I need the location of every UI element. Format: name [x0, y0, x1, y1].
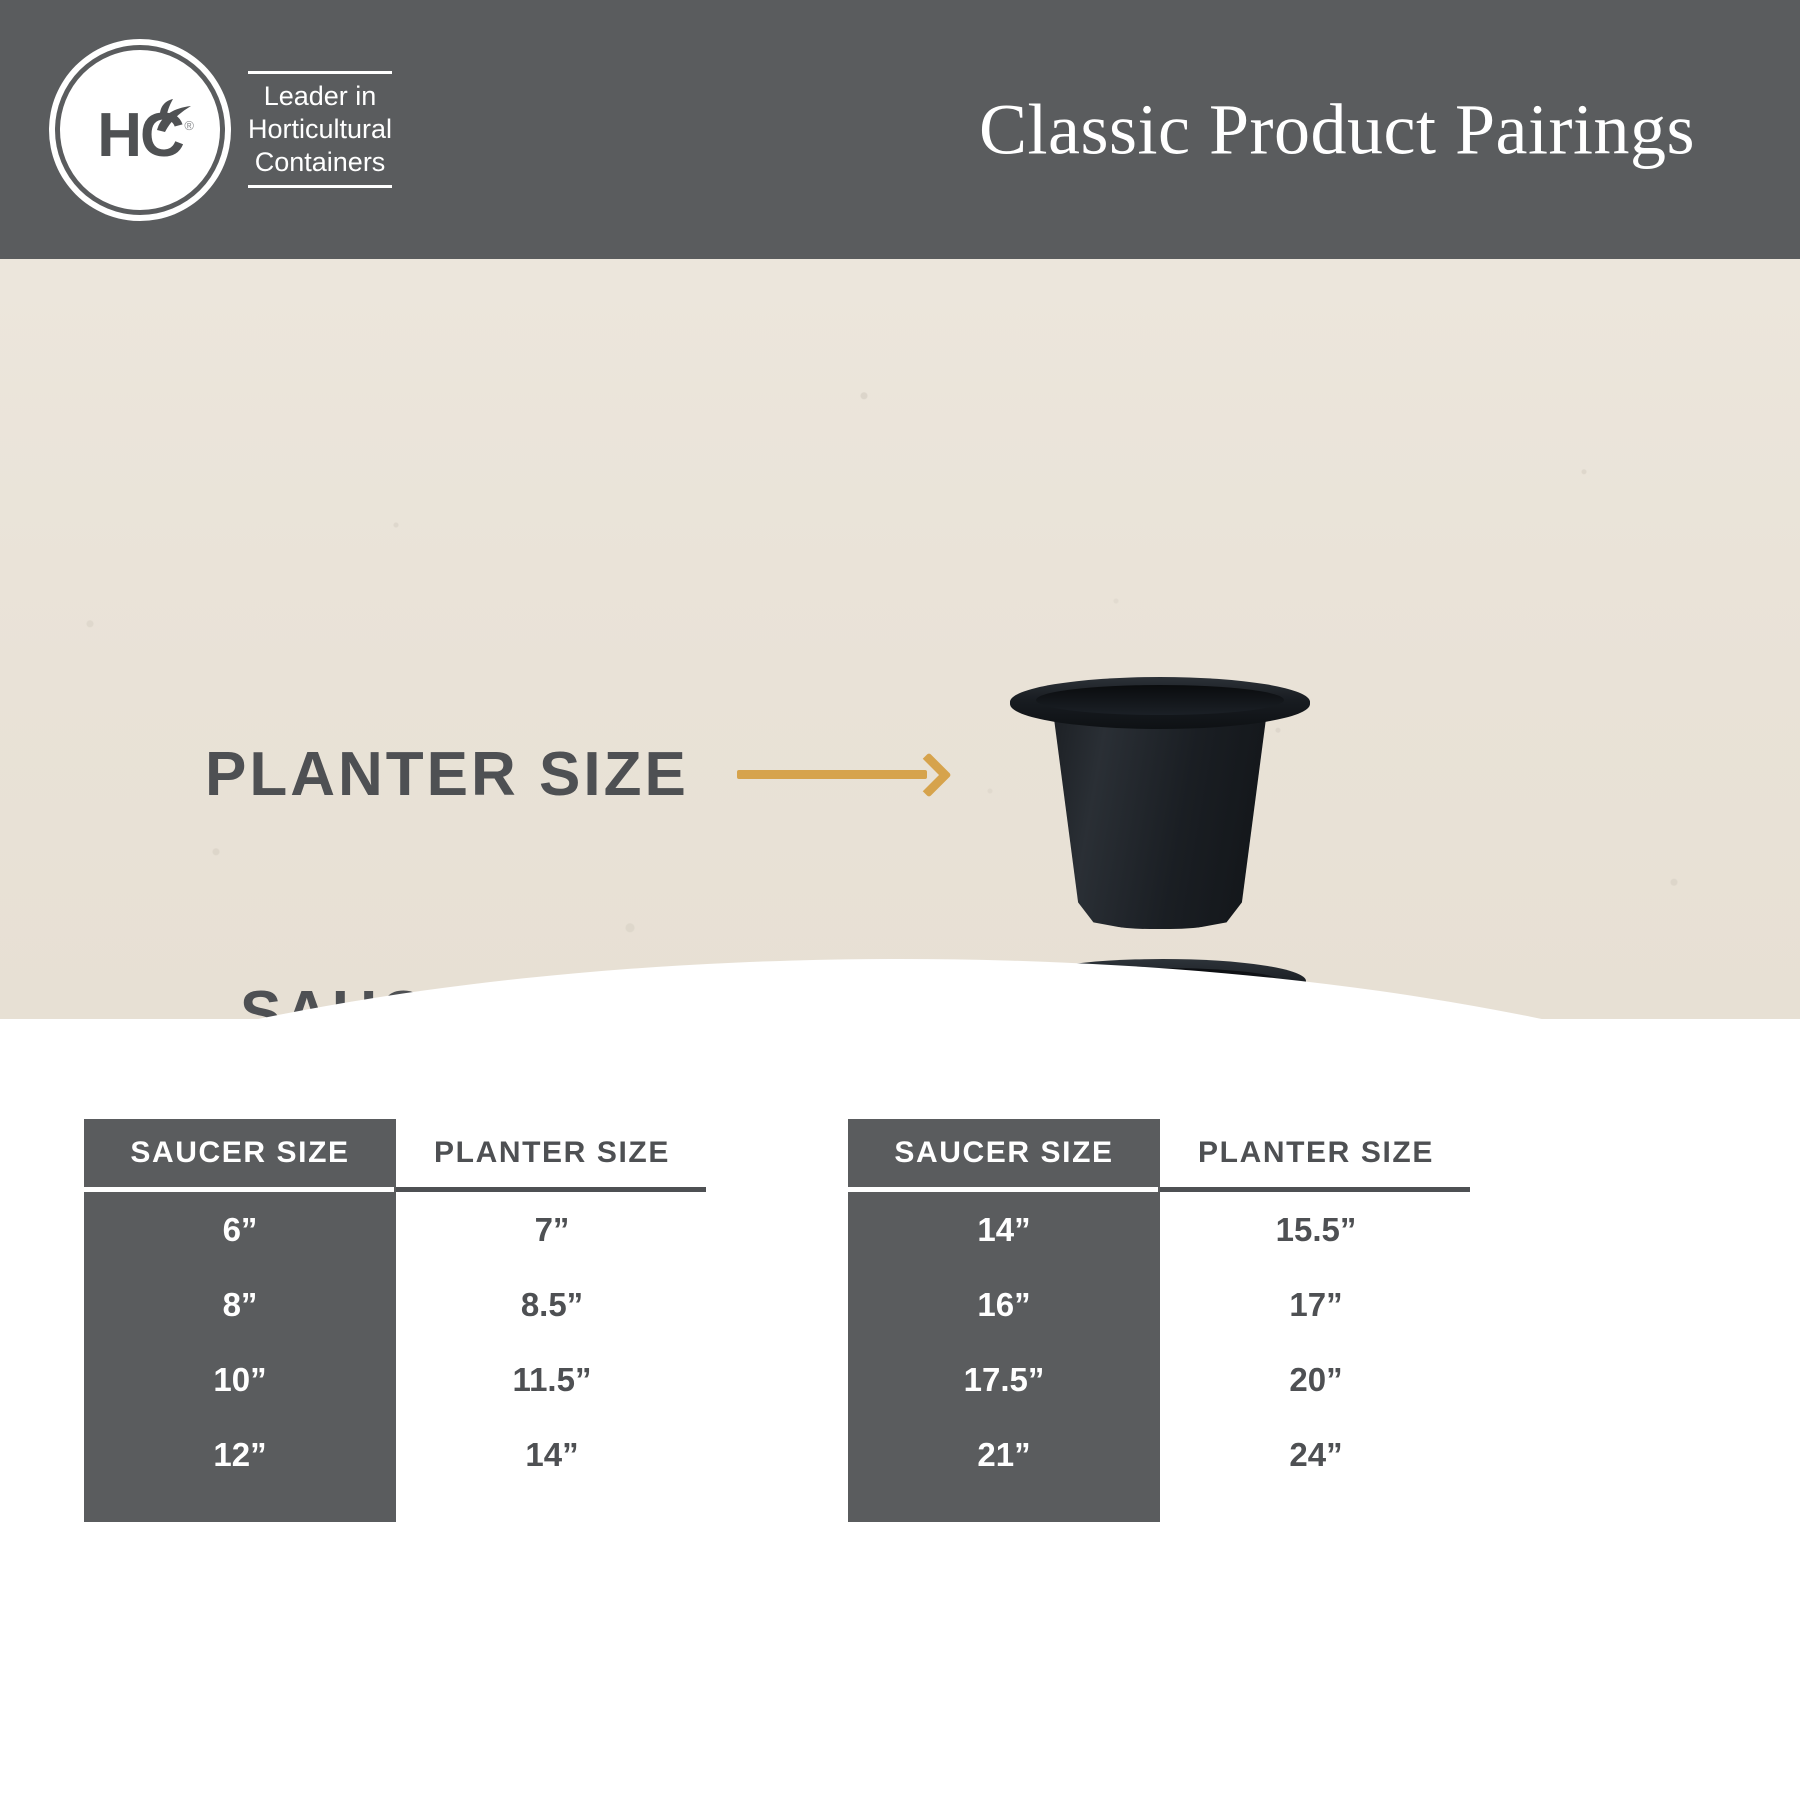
- planter-arrow-icon: [737, 759, 945, 791]
- planter-column: PLANTER SIZE 7” 8.5” 11.5” 14”: [396, 1119, 708, 1522]
- tagline-line-2: Horticultural: [248, 113, 392, 146]
- registered-trademark-icon: ®: [184, 118, 194, 133]
- table-cell-planter: 7”: [396, 1192, 708, 1267]
- planter-column: PLANTER SIZE 15.5” 17” 20” 24”: [1160, 1119, 1472, 1522]
- table-cell-planter: 8.5”: [396, 1267, 708, 1342]
- planter-pot-image: [1010, 669, 1310, 929]
- hero-section: PLANTER SIZE SAUCER SIZE: [0, 259, 1800, 1019]
- column-header-saucer: SAUCER SIZE: [84, 1119, 396, 1187]
- table-cell-planter: 15.5”: [1160, 1192, 1472, 1267]
- column-header-planter: PLANTER SIZE: [396, 1119, 708, 1187]
- table-cell-saucer: 10”: [84, 1342, 396, 1417]
- saucer-column: SAUCER SIZE 14” 16” 17.5” 21”: [848, 1119, 1160, 1522]
- table-cell-saucer: 21”: [848, 1417, 1160, 1492]
- table-cell-planter: 17”: [1160, 1267, 1472, 1342]
- size-table-small: SAUCER SIZE 6” 8” 10” 12” PLANTER SIZE 7…: [84, 1119, 708, 1522]
- column-header-planter: PLANTER SIZE: [1160, 1119, 1472, 1187]
- size-table-large: SAUCER SIZE 14” 16” 17.5” 21” PLANTER SI…: [848, 1119, 1472, 1522]
- tagline-line-3: Containers: [248, 146, 392, 179]
- table-cell-planter: 11.5”: [396, 1342, 708, 1417]
- column-header-saucer: SAUCER SIZE: [848, 1119, 1160, 1187]
- brand-logo: HC ® Leader in Horticultural Containers: [60, 50, 392, 210]
- table-cell-planter: 20”: [1160, 1342, 1472, 1417]
- page-title: Classic Product Pairings: [600, 88, 1740, 171]
- table-cell-saucer: 16”: [848, 1267, 1160, 1342]
- size-chart-section: SAUCER SIZE 6” 8” 10” 12” PLANTER SIZE 7…: [0, 1019, 1800, 1800]
- table-cell-saucer: 12”: [84, 1417, 396, 1492]
- tagline-line-1: Leader in: [248, 80, 392, 113]
- planter-size-label: PLANTER SIZE: [205, 739, 689, 810]
- page-header: HC ® Leader in Horticultural Containers …: [0, 0, 1800, 259]
- table-cell-saucer: 6”: [84, 1192, 396, 1267]
- planter-size-callout: PLANTER SIZE: [205, 739, 945, 810]
- table-cell-saucer: 14”: [848, 1192, 1160, 1267]
- table-cell-planter: 14”: [396, 1417, 708, 1492]
- table-cell-saucer: 17.5”: [848, 1342, 1160, 1417]
- table-cell-saucer: 8”: [84, 1267, 396, 1342]
- brand-tagline: Leader in Horticultural Containers: [248, 71, 392, 188]
- hc-logo-badge: HC ®: [60, 50, 220, 210]
- saucer-column: SAUCER SIZE 6” 8” 10” 12”: [84, 1119, 396, 1522]
- table-cell-planter: 24”: [1160, 1417, 1472, 1492]
